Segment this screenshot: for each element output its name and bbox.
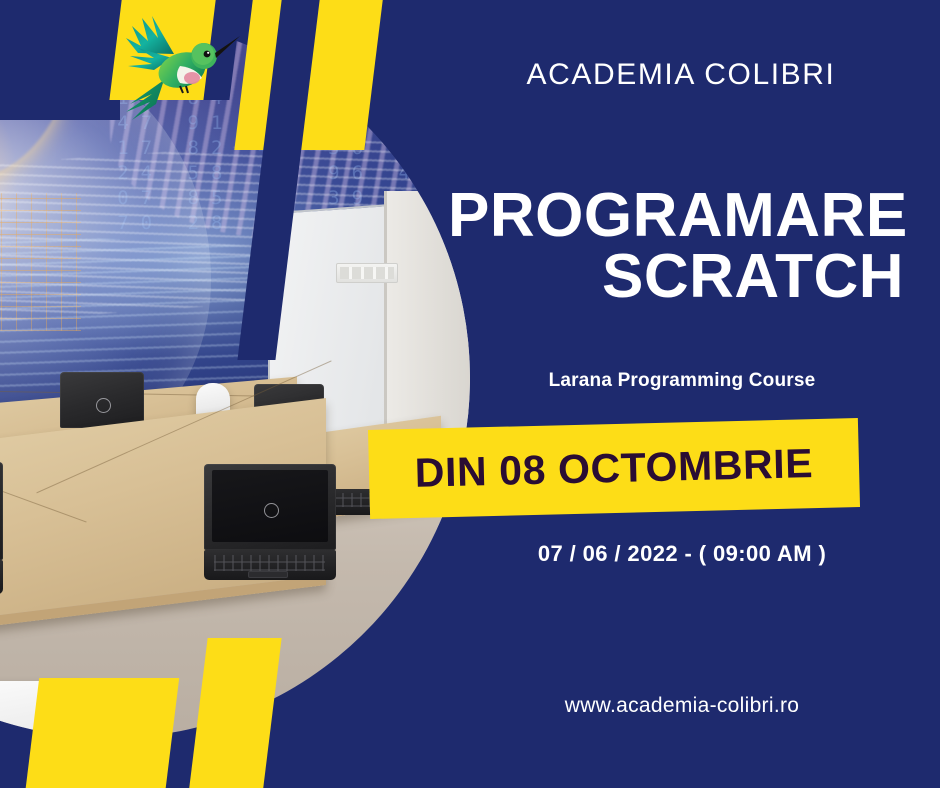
background-panel xyxy=(470,0,940,788)
promotional-poster: 75 89 52 10 36 91 48 27 65 03 19 84 72 5… xyxy=(0,0,940,788)
page-title: PROGRAMARE SCRATCH xyxy=(448,186,904,308)
laptop-base xyxy=(0,560,3,594)
laptop-keyboard xyxy=(214,555,325,571)
website-url[interactable]: www.academia-colibri.ro xyxy=(470,694,894,718)
laptop-screen xyxy=(212,470,328,542)
navy-corner-top-left xyxy=(0,0,120,120)
schedule-datetime: 07 / 06 / 2022 - ( 09:00 AM ) xyxy=(470,541,894,567)
wall-outlet xyxy=(336,263,398,283)
laptop-base xyxy=(204,550,336,580)
laptop-lid xyxy=(60,372,144,428)
brand-name: ACADEMIA COLIBRI xyxy=(470,58,892,92)
start-date-banner: DIN 08 OCTOMBRIE xyxy=(368,418,860,519)
laptop-lid xyxy=(0,462,3,560)
laptop-mid-open xyxy=(204,464,336,580)
yellow-stripe-bottom-1 xyxy=(21,678,179,788)
laptop-back-center xyxy=(60,372,144,428)
photo-image: 75 89 52 10 36 91 48 27 65 03 19 84 72 5… xyxy=(0,18,470,738)
hummingbird-icon xyxy=(108,8,240,126)
title-line-1: PROGRAMARE xyxy=(448,181,908,250)
laptop-lid xyxy=(204,464,336,550)
title-line-2: SCRATCH xyxy=(448,247,904,308)
classroom-photo: 75 89 52 10 36 91 48 27 65 03 19 84 72 5… xyxy=(0,18,470,738)
start-date-label: DIN 08 OCTOMBRIE xyxy=(414,440,813,497)
laptop-trackpad xyxy=(248,571,288,578)
course-subtitle: Larana Programming Course xyxy=(470,370,894,392)
laptop-front-open xyxy=(0,462,3,594)
